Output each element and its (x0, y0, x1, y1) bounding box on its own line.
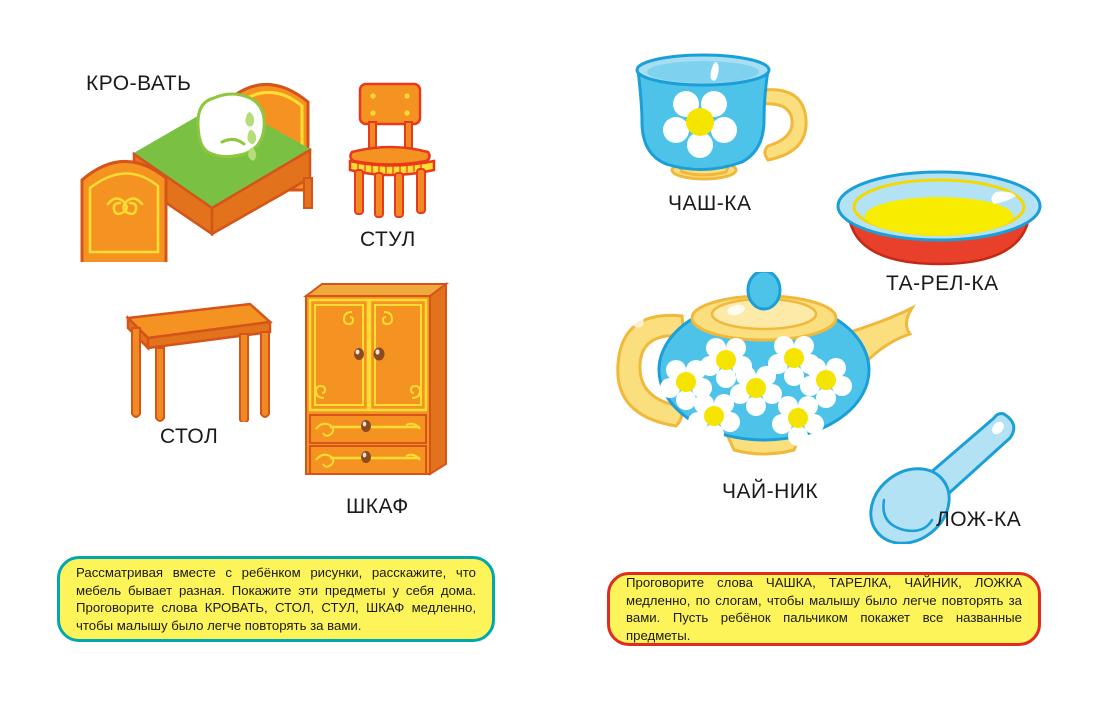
table-illustration (98, 292, 278, 422)
cup-illustration (628, 48, 818, 188)
caption-text-furniture: Рассматривая вместе с ребёнком рисунки, … (60, 564, 492, 634)
worksheet-page: КРО-ВАТЬ (0, 0, 1099, 701)
label-spoon: ЛОЖ-КА (936, 508, 1021, 532)
plate-illustration (828, 168, 1050, 274)
label-teapot: ЧАЙ-НИК (722, 480, 818, 504)
caption-box-furniture: Рассматривая вместе с ребёнком рисунки, … (57, 556, 495, 642)
label-bed: КРО-ВАТЬ (86, 72, 191, 96)
label-table: СТОЛ (160, 425, 218, 449)
label-wardrobe: ШКАФ (346, 495, 409, 519)
chair-illustration (338, 80, 446, 220)
caption-text-tableware: Проговорите слова ЧАШКА, ТАРЕЛКА, ЧАЙНИК… (610, 574, 1038, 644)
wardrobe-illustration (300, 282, 450, 480)
label-cup: ЧАШ-КА (668, 192, 751, 216)
caption-box-tableware: Проговорите слова ЧАШКА, ТАРЕЛКА, ЧАЙНИК… (607, 572, 1041, 646)
label-chair: СТУЛ (360, 228, 416, 252)
